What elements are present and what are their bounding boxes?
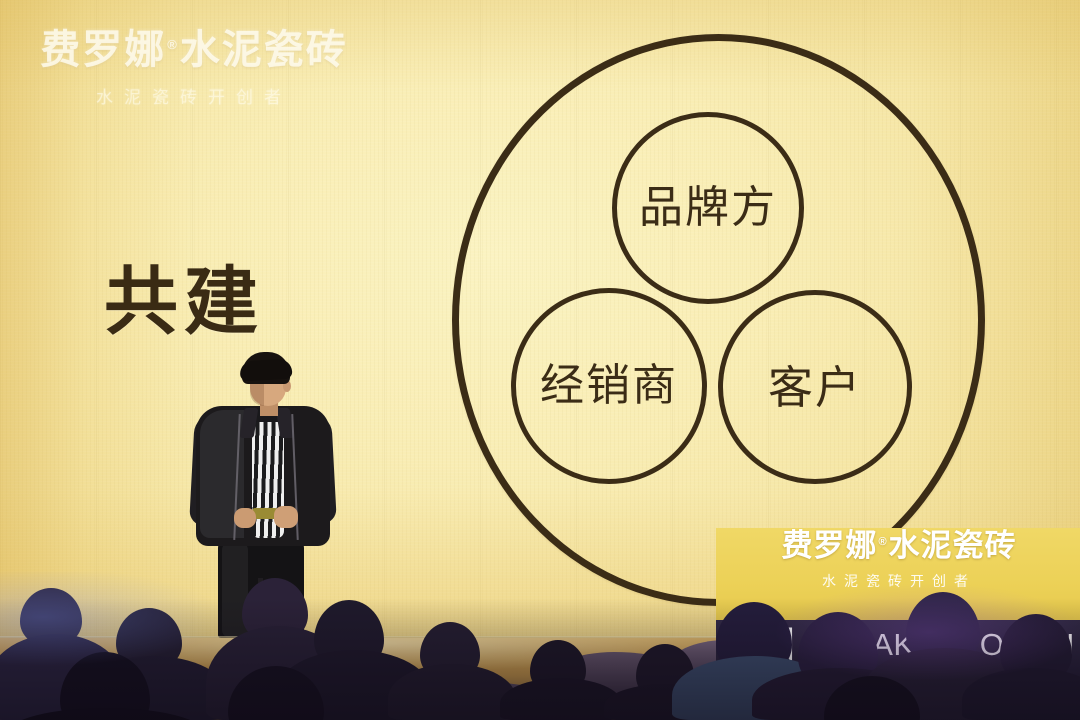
speaker-left-hand xyxy=(234,508,256,528)
circle-brand-label: 品牌方 xyxy=(639,186,777,230)
backdrop-brand-name: 费罗娜 xyxy=(781,530,877,561)
speaker-right-hand xyxy=(274,506,298,528)
conference-photo: 费罗娜 ® 水泥瓷砖 水泥瓷砖开创者 共建 品牌方 经销商 客户 xyxy=(0,0,1080,720)
stage-light-glow xyxy=(0,572,1080,720)
circle-client-label: 客户 xyxy=(768,365,862,410)
registered-trademark-icon: ® xyxy=(878,537,887,548)
backdrop-brand-category: 水泥瓷砖 xyxy=(889,530,1017,561)
circle-dealer: 经销商 xyxy=(511,288,707,484)
speaker-hair-top xyxy=(240,359,293,382)
backdrop-brand-name-row: 费罗娜 ® 水泥瓷砖 xyxy=(724,530,1074,561)
circle-client: 客户 xyxy=(718,290,912,484)
circle-brand: 品牌方 xyxy=(612,112,804,304)
circle-dealer-label: 经销商 xyxy=(540,364,678,408)
